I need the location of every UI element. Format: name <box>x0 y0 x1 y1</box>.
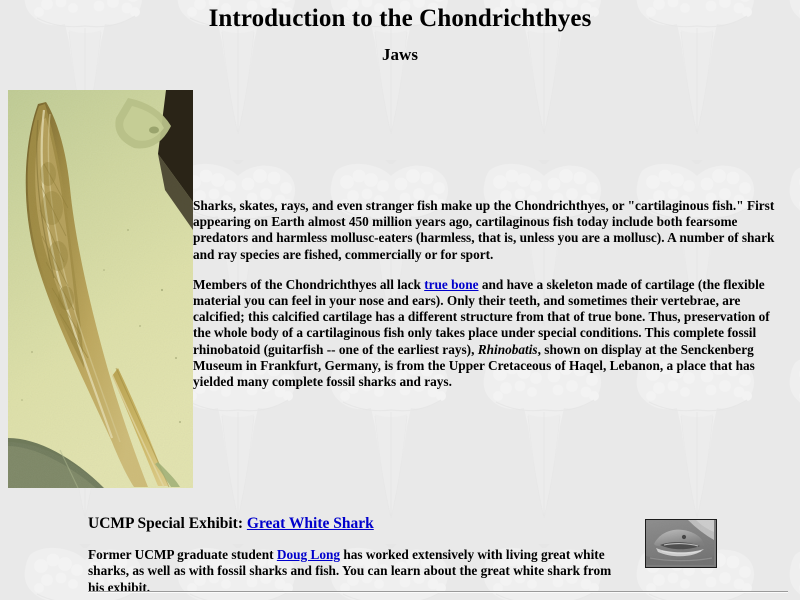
paragraph-intro-text: Sharks, skates, rays, and even stranger … <box>193 198 774 262</box>
article-body: Sharks, skates, rays, and even stranger … <box>193 198 790 404</box>
exhibit-heading-prefix: UCMP Special Exhibit: <box>88 515 247 532</box>
fossil-guitarfish-image <box>8 90 193 488</box>
page-title: Introduction to the Chondrichthyes <box>0 0 800 33</box>
exhibit-paragraph: Former UCMP graduate student Doug Long h… <box>88 547 628 596</box>
species-name-rhinobatis: Rhinobatis <box>478 342 538 357</box>
paragraph-cartilage-text-1: Members of the Chondrichthyes all lack <box>193 277 424 292</box>
fossil-guitarfish-illustration <box>8 90 193 488</box>
link-true-bone[interactable]: true bone <box>424 277 478 292</box>
shark-jaws-photo-illustration <box>646 520 714 565</box>
exhibit-heading: UCMP Special Exhibit: Great White Shark <box>88 515 628 533</box>
great-white-shark-thumbnail[interactable] <box>645 519 717 568</box>
exhibit-paragraph-text-1: Former UCMP graduate student <box>88 547 277 562</box>
page-subtitle: Jaws <box>0 33 800 65</box>
link-doug-long[interactable]: Doug Long <box>277 547 340 562</box>
special-exhibit-section: UCMP Special Exhibit: Great White Shark … <box>88 515 628 596</box>
paragraph-cartilage: Members of the Chondrichthyes all lack t… <box>193 277 790 390</box>
page-root: Introduction to the Chondrichthyes Jaws <box>0 0 800 600</box>
bottom-divider <box>88 591 788 593</box>
link-great-white-shark[interactable]: Great White Shark <box>247 515 374 532</box>
paragraph-intro: Sharks, skates, rays, and even stranger … <box>193 198 790 263</box>
